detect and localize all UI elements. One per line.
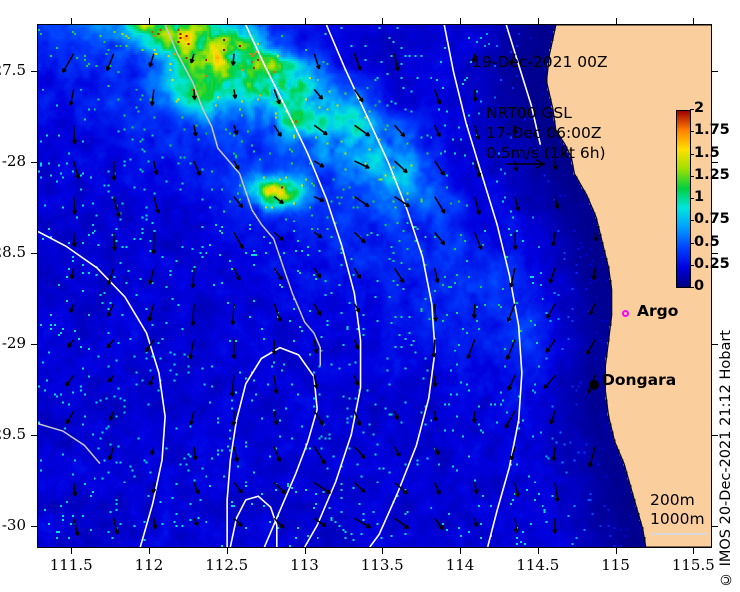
velocity-arrow [354,54,361,70]
x-tick [693,18,694,24]
y-tick-label: -28.5 [0,243,26,261]
source-model-line: NRT00 GSL [486,103,606,123]
velocity-arrow [194,161,200,175]
x-tick [538,548,539,554]
velocity-arrow [151,89,155,105]
velocity-arrow [191,54,194,63]
velocity-arrow [234,232,243,248]
velocity-arrow [435,125,440,136]
velocity-arrow [515,197,519,211]
date-stamp: 19-Dec-2021 00Z [472,53,608,71]
velocity-arrow [112,161,116,180]
velocity-arrow [508,375,515,390]
velocity-arrow [474,483,478,494]
velocity-arrow [314,268,320,277]
velocity-arrow [191,304,195,326]
velocity-arrow [592,268,596,280]
velocity-arrow [467,340,474,359]
colorbar-tick-label: 1.25 [694,167,730,183]
y-tick [31,435,37,436]
velocity-arrow [354,197,368,207]
velocity-arrow [154,197,159,214]
velocity-arrow [435,232,445,244]
velocity-arrow [274,304,281,322]
velocity-arrow [151,447,154,455]
velocity-arrow [314,375,318,388]
x-tick [616,548,617,554]
x-tick [460,18,461,24]
x-tick [538,18,539,24]
velocity-arrow [395,54,399,71]
bathymetry-contour [326,25,435,547]
velocity-arrow [354,447,364,458]
velocity-arrow [435,518,443,529]
velocity-arrow [109,447,114,460]
velocity-arrow [274,268,282,280]
velocity-arrow [231,375,235,396]
velocity-arrow [70,304,73,313]
velocity-arrow [234,125,238,134]
velocity-arrow [594,232,598,241]
velocity-arrow [107,54,114,71]
velocity-arrow [71,268,75,279]
bathymetry-contour [246,25,361,547]
velocity-arrow [74,518,79,535]
velocity-arrow [395,268,404,282]
x-tick-label: 112 [109,556,189,574]
velocity-arrow [149,268,154,284]
velocity-arrow [273,340,277,355]
x-tick [71,18,72,24]
velocity-arrow [149,54,154,67]
colorbar-tick-label: 1.75 [694,122,730,138]
velocity-arrow [550,411,555,424]
velocity-arrow [274,375,278,393]
x-tick [693,548,694,554]
argo-label: Argo [637,302,678,320]
velocity-arrow [152,232,156,253]
bathymetry-contour [165,25,320,366]
velocity-arrow [473,89,477,101]
velocity-arrow [354,340,358,350]
velocity-arrow [113,232,117,250]
velocity-arrow [475,197,480,215]
velocity-arrow [108,375,113,381]
velocity-arrow [73,125,77,144]
velocity-arrow [435,447,439,455]
x-tick [305,18,306,24]
velocity-arrow [153,518,157,529]
velocity-arrow [107,340,114,348]
velocity-arrow [107,268,113,284]
y-tick [712,71,718,72]
velocity-arrow [435,268,439,282]
dongara-label: Dongara [602,371,676,389]
velocity-arrow [515,483,519,497]
velocity-arrow [190,411,194,425]
velocity-arrow [553,518,557,533]
y-tick [31,526,37,527]
velocity-arrow [194,125,198,136]
velocity-arrow [314,232,322,237]
velocity-arrow [555,197,559,209]
velocity-arrow [114,518,119,534]
x-tick [382,18,383,24]
velocity-arrow [314,411,323,425]
y-tick [31,344,37,345]
velocity-arrow [234,197,242,208]
colorbar-tick-label: 2 [694,100,704,116]
velocity-arrow [234,447,238,462]
velocity-arrow [314,447,325,464]
colorbar-tick-label: 1.5 [694,145,720,161]
velocity-arrow [73,483,77,497]
x-tick [227,548,228,554]
y-tick-label: -29.5 [0,425,26,443]
x-tick-label: 114 [420,556,500,574]
bathymetry-contour [38,424,100,464]
x-tick [305,548,306,554]
velocity-arrow [74,161,80,178]
x-tick [460,548,461,554]
y-tick [31,253,37,254]
velocity-arrow [552,447,556,461]
velocity-arrow [232,411,236,426]
velocity-arrow [152,483,156,493]
velocity-arrow [473,304,477,318]
velocity-arrow [67,411,74,424]
velocity-arrow [435,161,444,175]
bathymetry-contour [38,232,165,547]
velocity-arrow [590,304,596,315]
y-tick [712,162,718,163]
bathymetry-contour [227,348,317,547]
velocity-arrow [154,161,158,175]
velocity-arrow [435,197,445,214]
velocity-arrow [114,197,120,217]
velocity-arrow [395,161,408,173]
velocity-arrow [274,125,281,136]
colorbar-gradient [676,110,691,288]
velocity-arrow [274,483,285,494]
velocity-arrow [108,304,114,317]
depth-200m-label: 200m [650,491,705,510]
velocity-arrow [587,340,595,355]
velocity-arrow [354,304,359,312]
velocity-arrow [274,232,283,240]
velocity-arrow [274,197,283,204]
velocity-arrow [354,232,365,242]
colorbar-tick-label: 1 [694,189,704,205]
y-tick [31,71,37,72]
y-tick-label: -28 [0,152,26,170]
velocity-arrow [475,232,482,249]
velocity-arrow [66,375,74,386]
x-tick-label: 112.5 [187,556,267,574]
velocity-arrow [193,447,197,460]
velocity-arrow [189,340,194,359]
velocity-arrow [72,232,76,246]
velocity-arrow [194,483,199,494]
velocity-arrow [354,125,369,136]
depth-legend-rule [652,533,708,535]
velocity-arrow [110,411,114,420]
y-tick-label: -30 [0,516,26,534]
velocity-arrow [474,518,477,526]
colorbar-tick-label: 0.75 [694,211,730,227]
velocity-arrow [234,483,242,493]
x-tick-label: 115 [576,556,656,574]
velocity-arrow [473,411,477,423]
velocity-arrow [148,304,154,321]
x-tick [149,18,150,24]
map-vector-overlay [38,25,711,547]
velocity-arrow [508,304,515,322]
velocity-arrow [354,518,370,527]
velocity-arrow [194,518,198,525]
velocity-arrow [507,340,515,360]
velocity-arrow [314,161,324,167]
velocity-arrow [191,268,195,288]
figure-canvas: 19-Dec-2021 00Z NRT00 GSL 17-Dec 06:00Z … [0,0,740,592]
velocity-arrow [274,411,278,425]
velocity-arrow [434,304,438,321]
velocity-arrow [547,304,555,318]
velocity-arrow [395,125,405,136]
velocity-arrow [68,340,74,348]
velocity-arrow [73,197,77,215]
y-tick [31,162,37,163]
velocity-arrow [552,232,556,245]
velocity-arrow [549,268,555,283]
source-time-line: 17-Dec 06:00Z [486,123,606,143]
x-tick [149,548,150,554]
velocity-arrow [544,375,555,388]
velocity-arrow [354,268,360,278]
velocity-arrow [475,125,480,139]
velocity-arrow [314,54,320,69]
x-tick-label: 113.5 [342,556,422,574]
colorbar-tick-label: 0 [694,278,704,294]
velocity-arrow [354,161,369,168]
source-info-block: NRT00 GSL 17-Dec 06:00Z 0.5m/s (1kt 6h) [486,103,606,163]
x-tick-label: 111.5 [31,556,111,574]
velocity-arrow [433,375,437,386]
argo-marker-icon[interactable] [622,310,629,317]
depth-1000m-label: 1000m [650,510,705,529]
velocity-arrow [314,197,323,201]
velocity-arrow [354,411,360,426]
colorbar-tick-label: 0.5 [694,234,720,250]
depth-contour-legend: 200m 1000m [650,491,705,529]
velocity-arrow [69,89,73,105]
velocity-arrow [314,125,327,134]
velocity-arrow [395,447,400,456]
velocity-arrow [234,268,240,280]
velocity-arrow [232,54,236,65]
velocity-arrow [231,304,235,325]
colorbar-tick-label: 0.25 [694,256,730,272]
velocity-arrow [505,411,515,428]
x-tick [71,548,72,554]
x-tick [616,18,617,24]
velocity-arrow [435,89,441,104]
velocity-arrow [314,89,322,99]
velocity-arrow [395,411,399,419]
y-tick [712,253,718,254]
velocity-arrow [354,375,358,385]
velocity-arrow [589,447,595,467]
velocity-arrow [354,483,364,493]
arrow-right-icon [503,157,555,171]
velocity-arrow [149,375,154,385]
x-tick [227,18,228,24]
velocity-arrow [434,411,438,421]
velocity-arrow [513,232,517,249]
y-tick-label: -29 [0,334,26,352]
x-tick-label: 113 [265,556,345,574]
velocity-arrow [435,483,440,495]
velocity-arrow [314,483,330,494]
x-tick [382,548,383,554]
dongara-marker-icon[interactable] [589,380,599,390]
velocity-arrow [514,518,518,532]
velocity-arrow [555,483,559,502]
map-plot-area[interactable]: 19-Dec-2021 00Z NRT00 GSL 17-Dec 06:00Z … [37,24,712,548]
velocity-arrow [274,447,280,462]
velocity-arrow [546,340,555,353]
velocity-arrow [314,304,320,315]
velocity-arrow [233,89,237,98]
velocity-arrow [232,340,236,359]
velocity-arrow [395,518,409,528]
velocity-arrow [63,54,74,73]
x-tick-label: 114.5 [498,556,578,574]
copyright-notice: © IMOS 20-Dec-2021 21:12 Hobart [718,330,734,587]
y-tick-label: -27.5 [0,61,26,79]
